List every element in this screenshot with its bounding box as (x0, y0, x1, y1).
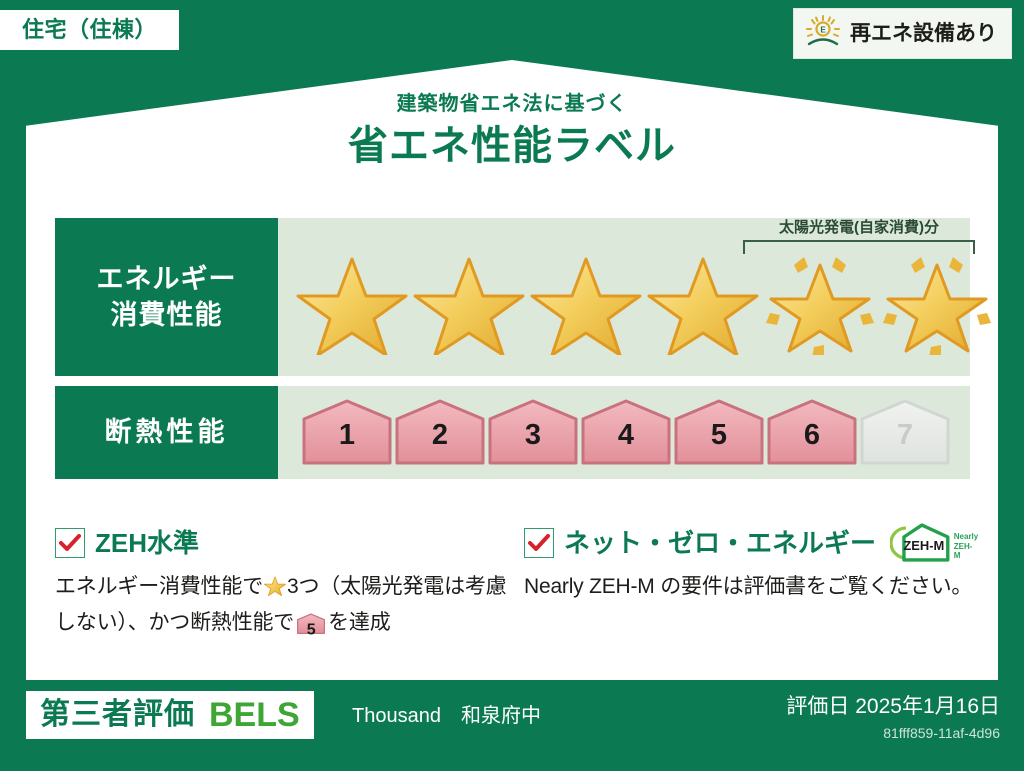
renewable-energy-badge: E 再エネ設備あり (793, 8, 1012, 59)
zeh-m-logo: ZEH-M Nearly ZEH-M (890, 522, 979, 564)
bels-label-en: BELS (209, 698, 300, 732)
insulation-level-value: 4 (581, 419, 671, 452)
insulation-level-value: 5 (674, 419, 764, 452)
solar-annotation-label: 太陽光発電(自家消費)分 (725, 220, 993, 237)
solar-sun-icon: E (804, 15, 842, 52)
builder-name: Thousand 和泉府中 (352, 706, 541, 726)
energy-label-root: 住宅（住棟） E 再エネ設備あり (0, 0, 1024, 771)
zeh-body-text-part1: エネルギー消費性能で (55, 575, 263, 598)
bels-label-jp: 第三者評価 (40, 700, 195, 730)
zeh-m-logo-sub: Nearly ZEH-M (954, 532, 979, 564)
zeh-standard-header: ZEH水準 (55, 524, 517, 562)
zeh-standard-body: エネルギー消費性能で3つ（太陽光発電は考慮しない）、かつ断熱性能で5を達成 (55, 571, 517, 645)
footer: 第三者評価 BELS Thousand 和泉府中 評価日 2025年1月16日 … (0, 680, 1024, 771)
star-icon-solar (881, 251, 993, 355)
insulation-performance-row: 断熱性能 1 (55, 386, 970, 479)
insulation-level-block: 4 (581, 399, 671, 467)
insulation-level-value: 2 (395, 419, 485, 452)
insulation-level-block: 5 (674, 399, 764, 467)
star-icon-inline (264, 574, 286, 607)
building-type-tag: 住宅（住棟） (0, 10, 179, 50)
zeh-body-text-part3: を達成 (328, 611, 390, 634)
insulation-performance-label: 断熱性能 (55, 386, 278, 479)
checkbox-checked-icon (55, 528, 85, 558)
svg-text:E: E (820, 26, 826, 35)
evaluation-id: 81fff859-11af-4d96 (883, 726, 1000, 740)
net-zero-energy-header: ネット・ゼロ・エネルギー ZEH-M Nearly ZEH-M (524, 524, 979, 562)
bels-logo-box: 第三者評価 BELS (26, 691, 314, 739)
insulation-level-block: 3 (488, 399, 578, 467)
insulation-level-block: 2 (395, 399, 485, 467)
insulation-level-value: 6 (767, 419, 857, 452)
insulation-level-block: 6 (767, 399, 857, 467)
star-rating (278, 251, 993, 355)
svg-text:ZEH-M: ZEH-M (903, 538, 944, 553)
star-icon (647, 251, 759, 355)
renewable-badge-label: 再エネ設備あり (850, 23, 997, 44)
evaluation-date: 評価日 2025年1月16日 (786, 696, 1000, 717)
star-icon (413, 251, 525, 355)
zeh-standard-block: ZEH水準 エネルギー消費性能で3つ（太陽光発電は考慮しない）、かつ断熱性能で5… (55, 524, 517, 645)
insulation-level-value: 3 (488, 419, 578, 452)
net-zero-energy-title: ネット・ゼロ・エネルギー (564, 530, 876, 556)
page-title: 省エネ性能ラベル (0, 120, 1024, 172)
insulation-level-scale: 1 2 3 4 5 (278, 399, 950, 467)
energy-performance-body: 太陽光発電(自家消費)分 (278, 218, 993, 376)
insulation-level-value: 1 (302, 419, 392, 452)
ratings-area: エネルギー 消費性能 太陽光発電(自家消費)分 (55, 218, 970, 479)
zeh-m-logo-sub-line1: Nearly (954, 532, 978, 541)
insulation-level-block-inactive: 7 (860, 399, 950, 467)
insulation-level-block: 1 (302, 399, 392, 467)
checkbox-checked-icon (524, 528, 554, 558)
zeh-standard-title: ZEH水準 (95, 530, 199, 556)
title-block: 建築物省エネ法に基づく 省エネ性能ラベル (0, 92, 1024, 172)
net-zero-energy-body: Nearly ZEH-M の要件は評価書をご覧ください。 (524, 571, 979, 604)
star-icon-solar (764, 251, 876, 355)
insulation-performance-body: 1 2 3 4 5 (278, 386, 970, 479)
insulation-level-value: 7 (860, 419, 950, 452)
insulation-level-inline: 5 (297, 613, 325, 646)
insulation-level-inline-value: 5 (297, 618, 325, 643)
title-subtitle: 建築物省エネ法に基づく (0, 92, 1024, 116)
zeh-section: ZEH水準 エネルギー消費性能で3つ（太陽光発電は考慮しない）、かつ断熱性能で5… (55, 524, 980, 645)
energy-performance-row: エネルギー 消費性能 太陽光発電(自家消費)分 (55, 218, 970, 376)
star-icon (296, 251, 408, 355)
zeh-m-logo-sub-line2: ZEH-M (954, 542, 973, 560)
net-zero-energy-block: ネット・ゼロ・エネルギー ZEH-M Nearly ZEH-M Nearly Z… (517, 524, 979, 645)
energy-performance-label: エネルギー 消費性能 (55, 218, 278, 376)
star-icon (530, 251, 642, 355)
solar-annotation: 太陽光発電(自家消費)分 (725, 220, 993, 254)
